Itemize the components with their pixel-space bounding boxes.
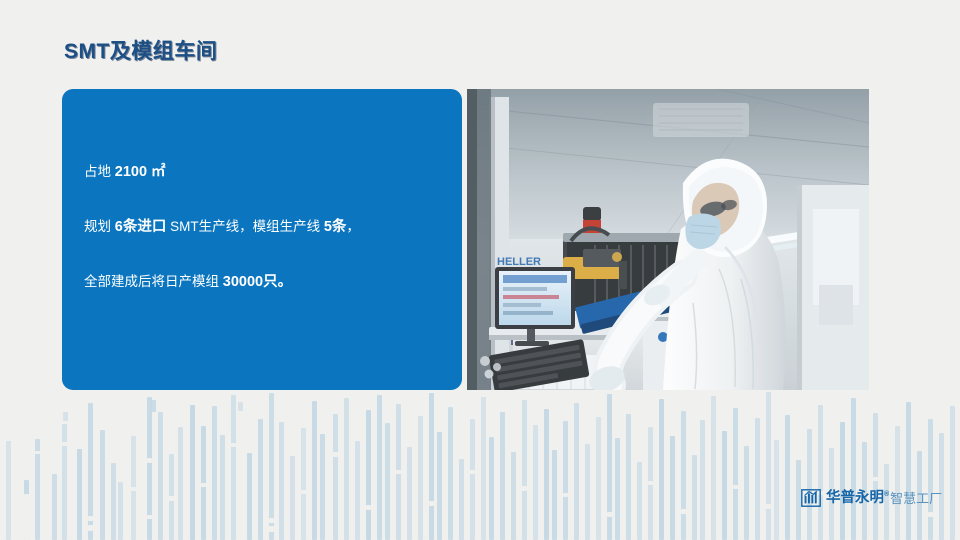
decorative-bar [522,400,527,540]
decorative-bar-gap [733,485,738,489]
decorative-bar [563,421,568,540]
decorative-bar [118,482,123,540]
decorative-bar [418,416,423,540]
info-line-lines-plan: 规划 6条进口 SMT生产线，模组生产线 5条， [84,218,448,236]
info-highlight: 6条进口 [115,219,167,235]
decorative-bar [552,450,557,540]
slide-canvas: SMT及模组车间 占地 2100 ㎡规划 6条进口 SMT生产线，模组生产线 5… [0,0,960,540]
decorative-bar [774,440,779,540]
decorative-bar [231,395,236,540]
decorative-bar [201,426,206,540]
logo-brand-name: 华普永明 [826,490,884,506]
decorative-bar [35,439,40,540]
decorative-bar [533,425,538,540]
decorative-bar-gap [301,490,306,494]
decorative-bar [544,409,549,540]
decorative-bar [928,419,933,540]
decorative-bar [88,403,93,540]
decorative-bar [212,406,217,540]
decorative-bar [258,419,263,540]
decorative-bar [437,432,442,540]
decorative-bar [344,398,349,540]
decorative-bar [247,453,252,540]
decorative-bar [131,436,136,540]
decorative-bar [711,396,716,540]
decorative-bar-gap [396,470,401,474]
decorative-bar [396,404,401,540]
factory-bars-icon [801,489,821,507]
decorative-bar [818,405,823,540]
company-logo: 华普永明® 智慧工厂 [801,487,942,509]
decorative-bar-gap [147,458,152,463]
decorative-bar [429,393,434,540]
decorative-bar-gap [522,486,527,491]
decorative-bar [147,397,152,540]
decorative-bar [301,428,306,540]
decorative-bar [355,441,360,540]
info-highlight: 5条 [324,219,347,235]
page-title: SMT及模组车间 [64,35,217,65]
decorative-bar [190,405,195,540]
info-text: 全部建成后将日产模组 [84,274,223,289]
decorative-bar [63,412,68,421]
decorative-bar [489,437,494,540]
decorative-bar-gap [928,512,933,517]
registered-trademark-mark: ® [884,491,889,498]
decorative-bar [895,426,900,540]
decorative-bar [906,402,911,540]
decorative-bar-gap [766,504,771,509]
workshop-photo: HELLER [467,89,869,390]
decorative-bar-field [0,392,960,540]
decorative-bar [755,418,760,540]
decorative-bar [100,430,105,540]
info-text: 占地 [84,164,115,179]
decorative-bar [366,410,371,540]
decorative-bar [950,406,955,540]
decorative-bar [290,456,295,540]
decorative-bar [637,462,642,540]
decorative-bar [785,415,790,540]
decorative-bar [807,429,812,540]
decorative-bar [158,412,163,540]
info-highlight: 30000只。 [223,274,292,290]
decorative-bar-gap [470,470,475,474]
decorative-bar-gap [429,501,434,506]
info-text: SMT生产线，模组生产线 [166,219,324,234]
decorative-bar [500,412,505,540]
decorative-bar [448,407,453,540]
decorative-bar [626,414,631,540]
decorative-bar [873,413,878,540]
decorative-bar-gap [35,451,40,454]
decorative-bar [733,408,738,540]
decorative-bar [681,411,686,540]
info-panel-text-block: 占地 2100 ㎡规划 6条进口 SMT生产线，模组生产线 5条，全部建成后将日… [84,163,448,291]
decorative-bar [648,427,653,540]
decorative-bar [377,395,382,540]
decorative-bar [744,446,749,540]
decorative-bar [511,452,516,540]
info-panel: 占地 2100 ㎡规划 6条进口 SMT生产线，模组生产线 5条，全部建成后将日… [62,89,462,390]
decorative-bar [178,427,183,540]
decorative-bar [385,423,390,540]
decorative-bar-gap [88,525,93,531]
decorative-bar [220,435,225,540]
decorative-bar [766,392,771,540]
decorative-bar-gap [147,515,152,519]
decorative-bar [62,424,67,540]
decorative-bar [692,455,697,540]
info-line-area: 占地 2100 ㎡ [84,163,448,181]
decorative-bar [615,438,620,540]
info-text: ， [346,219,360,234]
decorative-bar-gap [681,509,686,514]
decorative-bar [722,431,727,540]
info-highlight: 2100 ㎡ [115,164,166,180]
decorative-bar-gap [648,481,653,485]
decorative-bar [574,403,579,540]
decorative-bar [596,417,601,540]
decorative-bar [607,394,612,540]
decorative-bar-gap [269,526,274,532]
decorative-bar-gap [201,483,206,487]
info-text: 规划 [84,219,115,234]
decorative-bar [851,398,856,540]
decorative-bar [269,393,274,540]
decorative-bar-gap [366,505,371,510]
decorative-bar [700,420,705,540]
decorative-bar [238,402,243,411]
logo-sub-text: 智慧工厂 [890,492,942,505]
decorative-bar-gap [88,516,93,521]
decorative-bar-gap [231,443,236,447]
decorative-bar-gap [873,477,878,481]
decorative-bar-gap [169,496,174,501]
decorative-bar [151,400,156,412]
workshop-photo-illustration: HELLER [467,89,869,390]
decorative-bar [111,463,116,540]
decorative-bar [6,441,11,540]
info-line-daily-output: 全部建成后将日产模组 30000只。 [84,273,448,291]
decorative-bar-gap [563,493,568,497]
decorative-bar-gap [607,512,612,517]
decorative-bar [52,474,57,540]
decorative-bar-gap [131,487,136,491]
logo-main-text: 华普永明® [826,491,889,506]
decorative-bar-gap [333,452,338,457]
decorative-bar [169,454,174,540]
decorative-bar [459,459,464,540]
decorative-bar [333,414,338,540]
decorative-bar-gap [62,442,67,446]
decorative-bar [659,399,664,540]
decorative-bar [312,401,317,540]
decorative-bar [77,449,82,540]
decorative-bar [585,444,590,540]
decorative-bar-gap [269,518,274,523]
decorative-bar [481,397,486,540]
decorative-bar [24,480,29,540]
decorative-bar [670,436,675,540]
decorative-bar [279,422,284,540]
decorative-bar [470,419,475,540]
decorative-bar [320,434,325,540]
decorative-bar [407,447,412,540]
decorative-bar-gap [24,494,29,540]
decorative-bar [840,422,845,540]
